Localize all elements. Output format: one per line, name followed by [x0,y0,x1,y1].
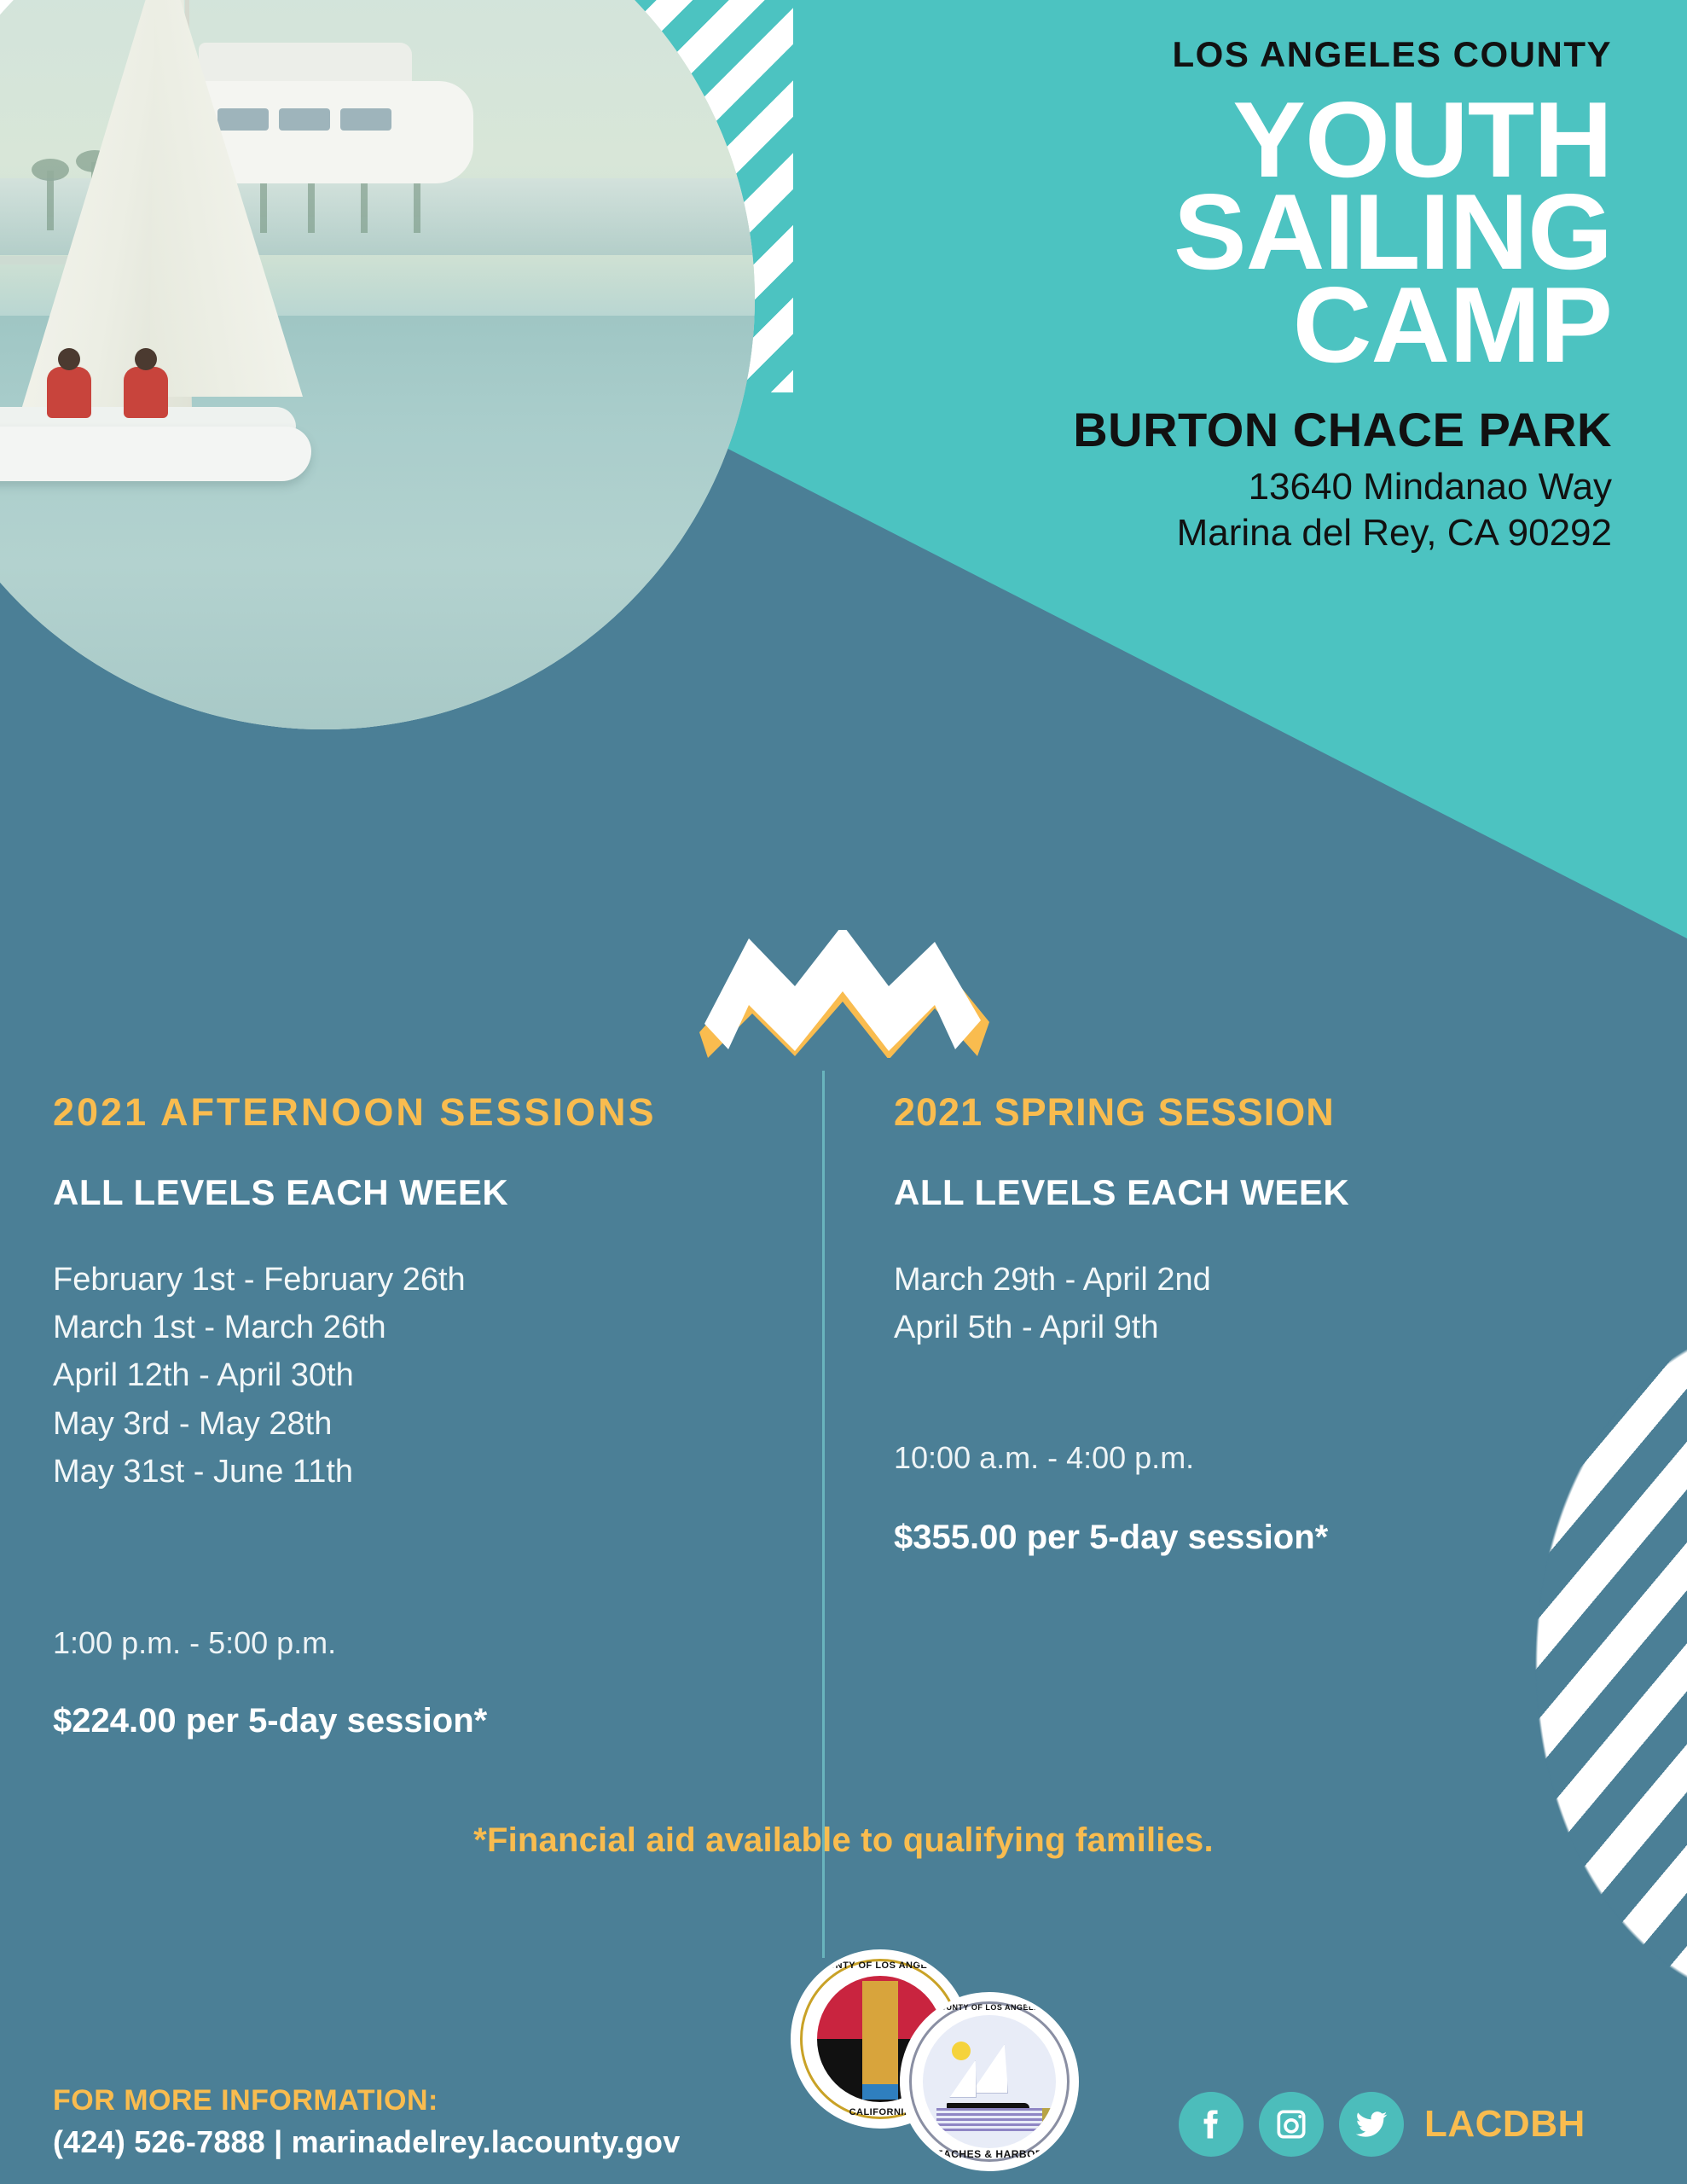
list-item: February 1st - February 26th [53,1256,786,1304]
beaches-harbors-seal: COUNTY OF LOS ANGELES BEACHES & HARBORS [904,1996,1075,2167]
address-line-2: Marina del Rey, CA 90292 [759,510,1612,556]
facebook-button[interactable] [1179,2092,1244,2157]
seal-bottom-text: BEACHES & HARBORS [904,2148,1075,2160]
youth-sailing-camp-flyer: 14.2 Sub1 LOS ANGELES COUNTY YOUTH SAILI… [0,0,1687,2184]
sailor-head [135,348,157,370]
footer-info: FOR MORE INFORMATION: (424) 526-7888 | m… [53,2084,680,2160]
afternoon-sessions-subtitle: ALL LEVELS EACH WEEK [53,1172,786,1213]
yacht-window [217,108,269,131]
afternoon-date-list: February 1st - February 26th March 1st -… [53,1256,786,1496]
page-title: YOUTH SAILING CAMP [742,94,1612,371]
contact-line: (424) 526-7888 | marinadelrey.lacounty.g… [53,2124,680,2160]
agency-seals: COUNTY OF LOS ANGELES CALIFORNIA COUNTY … [785,1954,1143,2167]
spring-session-time: 10:00 a.m. - 4:00 p.m. [894,1440,1194,1476]
dinghy-hull [0,427,311,481]
list-item: April 5th - April 9th [894,1304,1627,1351]
afternoon-session-time: 1:00 p.m. - 5:00 p.m. [53,1625,336,1661]
social-handle: LACDBH [1424,2103,1586,2146]
twitter-button[interactable] [1339,2092,1404,2157]
spring-session-price: $355.00 per 5-day session* [894,1519,1328,1557]
sun-icon [952,2042,971,2060]
instagram-icon [1272,2106,1310,2143]
sailing-photo: 14.2 Sub1 [0,0,755,729]
seal-water [862,2084,897,2100]
twitter-icon [1353,2106,1390,2143]
yacht-window [340,108,391,131]
seal-top-text: COUNTY OF LOS ANGELES [795,1960,965,1971]
spring-session-column: 2021 SPRING SESSION ALL LEVELS EACH WEEK… [894,1090,1627,1351]
list-item: May 3rd - May 28th [53,1400,786,1448]
chevron-icon [699,930,989,1058]
sailor-head [58,348,80,370]
header-block: LOS ANGELES COUNTY YOUTH SAILING CAMP BU… [759,34,1612,555]
sailboat-jib-icon [949,2060,977,2098]
seal-sea [936,2108,1043,2132]
list-item: March 29th - April 2nd [894,1256,1627,1304]
instagram-button[interactable] [1259,2092,1324,2157]
sailor-figure [124,367,168,418]
address-line-1: 13640 Mindanao Way [759,464,1612,510]
county-label: LOS ANGELES COUNTY [759,34,1612,75]
more-information-label: FOR MORE INFORMATION: [53,2084,680,2117]
seal-top-text: COUNTY OF LOS ANGELES [904,2003,1075,2012]
spring-session-title: 2021 SPRING SESSION [894,1090,1627,1135]
title-line-3: CAMP [742,279,1612,371]
palm-tree [47,171,54,230]
sailor-figure [47,367,91,418]
list-item: May 31st - June 11th [53,1448,786,1496]
park-name: BURTON CHACE PARK [759,402,1612,457]
address-block: 13640 Mindanao Way Marina del Rey, CA 90… [759,464,1612,555]
chevron-motif [699,930,989,1058]
list-item: April 12th - April 30th [53,1351,786,1399]
financial-aid-note: *Financial aid available to qualifying f… [0,1821,1687,1860]
afternoon-sessions-title: 2021 AFTERNOON SESSIONS [53,1090,786,1135]
yacht-window [279,108,330,131]
spring-date-list: March 29th - April 2nd April 5th - April… [894,1256,1627,1351]
social-links: LACDBH [1179,2092,1586,2157]
facebook-icon [1192,2106,1230,2143]
afternoon-session-price: $224.00 per 5-day session* [53,1702,487,1740]
afternoon-sessions-column: 2021 AFTERNOON SESSIONS ALL LEVELS EACH … [53,1090,786,1496]
spring-session-subtitle: ALL LEVELS EACH WEEK [894,1172,1627,1213]
seal-figure [862,1981,897,2097]
sailboat-icon [971,2044,1008,2094]
seal-artwork [923,2015,1056,2148]
list-item: March 1st - March 26th [53,1304,786,1351]
